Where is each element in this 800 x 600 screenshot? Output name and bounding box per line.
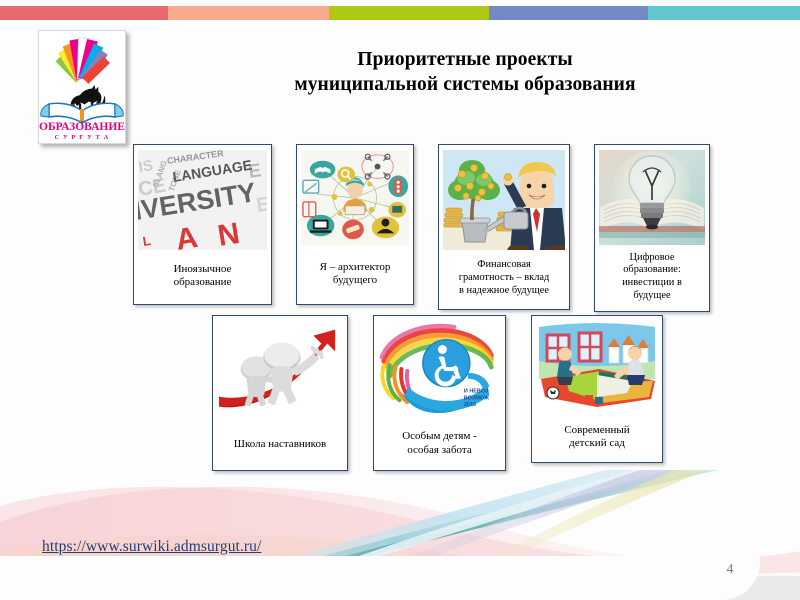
segment-peach bbox=[168, 6, 330, 20]
footer-rounded-mask bbox=[0, 556, 760, 600]
svg-text:2016: 2016 bbox=[464, 402, 476, 408]
caption-text: Особым детям - особая забота bbox=[402, 430, 477, 457]
future-architect-infographic-image bbox=[301, 150, 409, 246]
logo-text-sub: С У Р Г У Т А bbox=[55, 134, 110, 141]
segment-blue bbox=[489, 6, 647, 20]
project-card-caption: Особым детям - особая забота bbox=[400, 419, 479, 466]
project-card-row-1: IS CHARACTER CE E E SLANG TONE LANGUAGE … bbox=[133, 144, 710, 312]
lightbulb-book-image bbox=[599, 150, 705, 245]
money-tree-businessman-image bbox=[443, 150, 565, 250]
svg-text:ВОЗМОЖ: ВОЗМОЖ bbox=[464, 395, 489, 401]
project-card-caption: Современный детский сад bbox=[562, 414, 631, 458]
caption-text: Школа наставников bbox=[234, 438, 326, 451]
page-title: Приоритетные проекты муниципальной систе… bbox=[200, 48, 730, 98]
svg-text:И НЕВОЗ: И НЕВОЗ bbox=[464, 388, 489, 394]
project-card-row-2: Школа наставников bbox=[212, 315, 663, 471]
project-card-cifrovoe-obrazovanie[interactable]: Цифровое образование: инвестиции в будущ… bbox=[594, 144, 710, 312]
mentors-red-arrow-image bbox=[217, 321, 343, 421]
top-color-bar-front bbox=[0, 6, 800, 20]
caption-text: Цифровое образование: инвестиции в будущ… bbox=[622, 252, 682, 303]
page-title-line2: муниципальной системы образования bbox=[200, 73, 730, 98]
project-card-caption: Школа наставников bbox=[232, 421, 328, 466]
caption-text: Финансовая грамотность – вклад в надежно… bbox=[459, 259, 550, 297]
caption-text: Иноязычное образование bbox=[174, 263, 232, 290]
caption-text: Я – архитектор будущего bbox=[320, 261, 391, 288]
site-url-link[interactable]: https://www.surwiki.admsurgut.ru/ bbox=[42, 538, 261, 556]
project-card-caption: Цифровое образование: инвестиции в будущ… bbox=[620, 245, 684, 307]
logo-text-main: ОБРАЗОВАНИЕ bbox=[39, 121, 125, 133]
segment-teal bbox=[648, 6, 800, 20]
obrazovanie-surguta-logo: ОБРАЗОВАНИЕ С У Р Г У Т А bbox=[38, 30, 126, 144]
language-word-cloud-image: IS CHARACTER CE E E SLANG TONE LANGUAGE … bbox=[138, 150, 267, 250]
project-card-caption: Финансовая грамотность – вклад в надежно… bbox=[457, 250, 552, 305]
segment-red bbox=[0, 6, 168, 20]
page-number: 4 bbox=[718, 562, 742, 578]
presentation-slide: ОБРАЗОВАНИЕ С У Р Г У Т А Приоритетные п… bbox=[0, 0, 800, 600]
page-title-line1: Приоритетные проекты bbox=[357, 49, 572, 70]
caption-text: Современный детский сад bbox=[564, 424, 629, 451]
project-card-inoyazychnoe[interactable]: IS CHARACTER CE E E SLANG TONE LANGUAGE … bbox=[133, 144, 272, 305]
kindergarten-children-image bbox=[536, 321, 658, 414]
project-card-shkola-nastavnikov[interactable]: Школа наставников bbox=[212, 315, 348, 471]
project-card-arhitektor[interactable]: Я – архитектор будущего bbox=[296, 144, 414, 305]
segment-green bbox=[329, 6, 489, 20]
project-card-caption: Иноязычное образование bbox=[172, 250, 234, 300]
project-card-finansovaya-gramotnost[interactable]: Финансовая грамотность – вклад в надежно… bbox=[438, 144, 570, 310]
project-card-caption: Я – архитектор будущего bbox=[318, 246, 393, 300]
accessibility-care-image: И НЕВОЗ ВОЗМОЖ 2016 bbox=[378, 321, 501, 419]
project-card-sovremennyy-detskiy-sad[interactable]: Современный детский сад bbox=[531, 315, 663, 463]
project-card-osobym-detyam[interactable]: И НЕВОЗ ВОЗМОЖ 2016 Особым детям - особа… bbox=[373, 315, 506, 471]
